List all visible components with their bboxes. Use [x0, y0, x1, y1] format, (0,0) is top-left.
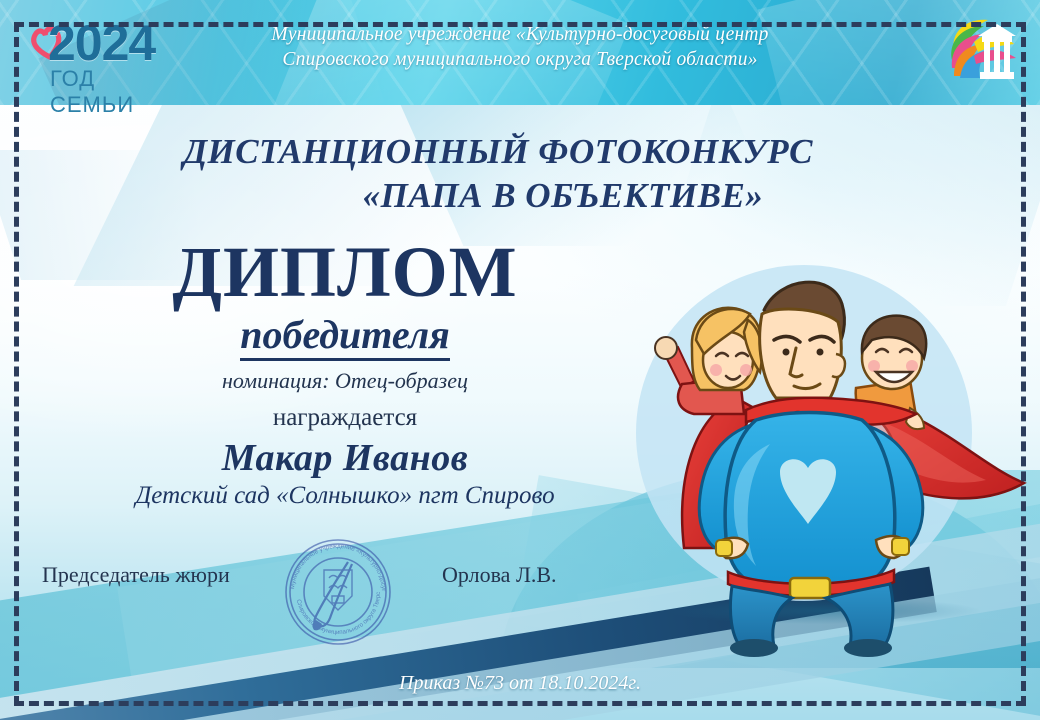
contest-title: ДИСТАНЦИОННЫЙ ФОТОКОНКУРС «ПАПА В ОБЪЕКТ… — [48, 130, 948, 218]
superhero-dad-illustration — [604, 248, 1034, 658]
contest-title-line-1: ДИСТАНЦИОННЫЙ ФОТОКОНКУРС — [48, 130, 948, 174]
culture-columns-logo — [944, 12, 1022, 88]
awarded-label: награждается — [110, 404, 580, 432]
contest-title-line-2: «ПАПА В ОБЪЕКТИВЕ» — [48, 174, 948, 218]
signature-name: Орлова Л.В. — [442, 562, 557, 588]
organization-line-2: Спировского муниципального округа Тверск… — [170, 47, 870, 72]
signature-stroke — [314, 562, 352, 626]
wristband-right — [892, 538, 909, 555]
diploma-kind-text: победителя — [240, 312, 450, 361]
dad-head — [760, 282, 845, 398]
organization-line-1: Муниципальное учреждение «Культурно-досу… — [170, 22, 870, 47]
shoe-right — [844, 639, 892, 657]
year-logo-caption: ГОД СЕМЬИ — [50, 66, 176, 118]
leg-left — [730, 586, 792, 646]
wristband-left — [716, 540, 732, 556]
recipient-org: Детский сад «Солнышко» пгт Спирово — [80, 482, 610, 510]
official-stamp: Муниципальное учреждение «Культурно-досу… — [276, 534, 400, 652]
year-logo-number: 2024 — [48, 14, 155, 72]
diploma-certificate: 2024 ГОД СЕМЬИ Муниципальное учреждение … — [0, 0, 1040, 720]
belt-buckle — [790, 578, 830, 598]
order-footer: Приказ №73 от 18.10.2024г. — [320, 672, 720, 695]
signature-role: Председатель жюри — [42, 562, 230, 588]
dad-face — [760, 309, 842, 398]
nomination-line: номинация: Отец-образец — [110, 368, 580, 394]
diploma-heading: ДИПЛОМ — [130, 234, 560, 310]
organization-header: Муниципальное учреждение «Культурно-досу… — [170, 22, 870, 72]
recipient-name: Макар Иванов — [100, 436, 590, 480]
year-of-family-logo: 2024 ГОД СЕМЬИ — [26, 12, 176, 98]
diploma-kind: победителя — [130, 312, 560, 358]
shoe-left — [730, 639, 778, 657]
